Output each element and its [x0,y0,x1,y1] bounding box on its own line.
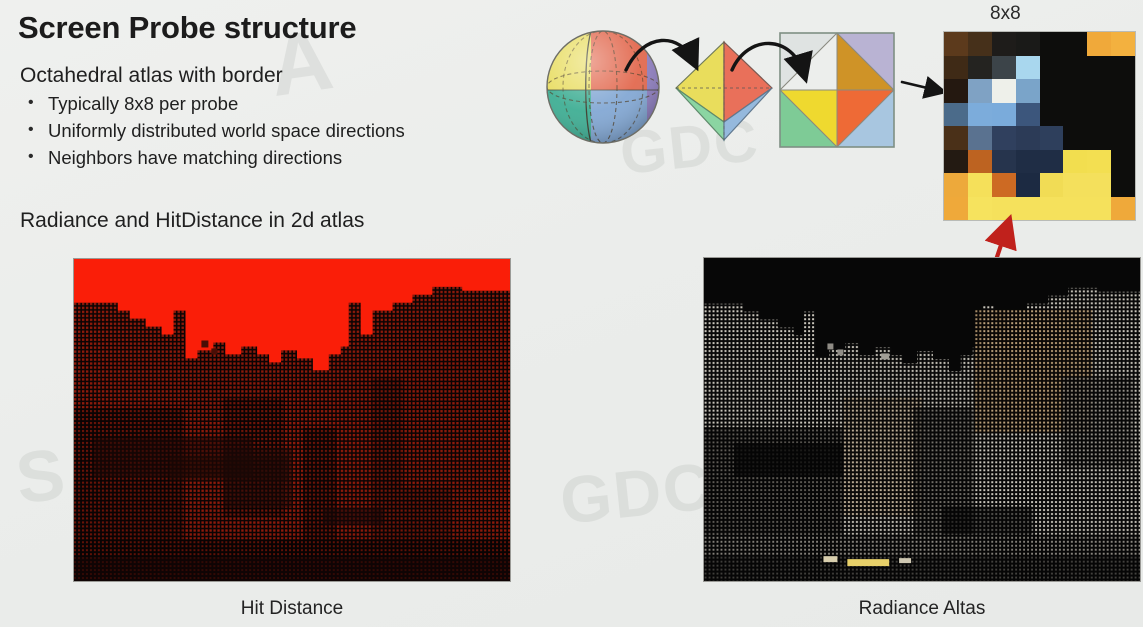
texture-pixel-3-0 [944,103,968,127]
probe-texture-8x8 [943,31,1136,221]
radiance-atlas [703,257,1141,582]
texture-pixel-2-4 [1040,79,1064,103]
texture-pixel-3-2 [992,103,1016,127]
slide-canvas: A GDC S W GDC A Screen Probe structure O… [0,0,1143,627]
texture-pixel-2-1 [968,79,992,103]
texture-pixel-4-1 [968,126,992,150]
texture-pixel-0-5 [1063,32,1087,56]
texture-pixel-7-1 [968,197,992,221]
texture-pixel-2-6 [1087,79,1111,103]
texture-pixel-5-2 [992,150,1016,174]
texture-pixel-6-0 [944,173,968,197]
texture-pixel-7-7 [1111,197,1135,221]
texture-pixel-4-6 [1087,126,1111,150]
texture-pixel-2-5 [1063,79,1087,103]
texture-pixel-0-7 [1111,32,1135,56]
texture-pixel-4-5 [1063,126,1087,150]
texture-pixel-7-5 [1063,197,1087,221]
texture-pixel-0-1 [968,32,992,56]
list-item: Typically 8x8 per probe [20,90,405,117]
texture-pixel-4-7 [1111,126,1135,150]
texture-pixel-0-2 [992,32,1016,56]
texture-pixel-1-4 [1040,56,1064,80]
texture-pixel-3-7 [1111,103,1135,127]
page-title: Screen Probe structure [18,10,356,46]
texture-pixel-7-2 [992,197,1016,221]
texture-pixel-5-7 [1111,150,1135,174]
texture-pixel-1-7 [1111,56,1135,80]
texture-pixel-6-6 [1087,173,1111,197]
texture-pixel-6-4 [1040,173,1064,197]
texture-pixel-7-3 [1016,197,1040,221]
texture-pixel-1-6 [1087,56,1111,80]
radiance-atlas-caption: Radiance Altas [703,598,1141,620]
arrow-sphere-to-octahedron [622,30,712,100]
texture-pixel-1-3 [1016,56,1040,80]
texture-pixel-0-3 [1016,32,1040,56]
texture-pixel-grid [944,32,1135,220]
texture-pixel-3-1 [968,103,992,127]
texture-pixel-1-0 [944,56,968,80]
list-item: Uniformly distributed world space direct… [20,117,405,144]
watermark-d: GDC [556,447,716,539]
list-item: Neighbors have matching directions [20,144,405,171]
texture-pixel-6-3 [1016,173,1040,197]
texture-pixel-6-7 [1111,173,1135,197]
texture-pixel-3-6 [1087,103,1111,127]
hit-distance-atlas [73,258,511,582]
octahedral-mapping-diagram [530,8,950,183]
texture-pixel-2-7 [1111,79,1135,103]
texture-pixel-4-0 [944,126,968,150]
texture-pixel-3-5 [1063,103,1087,127]
texture-size-label: 8x8 [990,3,1021,25]
texture-pixel-2-0 [944,79,968,103]
texture-pixel-6-5 [1063,173,1087,197]
texture-pixel-0-6 [1087,32,1111,56]
texture-pixel-3-3 [1016,103,1040,127]
texture-pixel-5-1 [968,150,992,174]
texture-pixel-6-2 [992,173,1016,197]
texture-pixel-5-3 [1016,150,1040,174]
texture-pixel-7-4 [1040,197,1064,221]
texture-pixel-0-4 [1040,32,1064,56]
texture-pixel-2-2 [992,79,1016,103]
texture-pixel-5-6 [1087,150,1111,174]
atlas-tagline: Radiance and HitDistance in 2d atlas [20,209,364,233]
texture-pixel-4-3 [1016,126,1040,150]
section-subheading: Octahedral atlas with border [20,64,283,88]
arrow-octahedron-to-atlas [730,34,830,109]
texture-pixel-7-6 [1087,197,1111,221]
texture-pixel-1-5 [1063,56,1087,80]
texture-pixel-5-4 [1040,150,1064,174]
texture-pixel-4-4 [1040,126,1064,150]
texture-pixel-1-2 [992,56,1016,80]
texture-pixel-3-4 [1040,103,1064,127]
texture-pixel-4-2 [992,126,1016,150]
texture-pixel-5-5 [1063,150,1087,174]
hit-distance-caption: Hit Distance [73,598,511,620]
bullet-list: Typically 8x8 per probe Uniformly distri… [20,90,405,171]
texture-pixel-1-1 [968,56,992,80]
texture-pixel-7-0 [944,197,968,221]
texture-pixel-6-1 [968,173,992,197]
texture-pixel-5-0 [944,150,968,174]
texture-pixel-2-3 [1016,79,1040,103]
texture-pixel-0-0 [944,32,968,56]
